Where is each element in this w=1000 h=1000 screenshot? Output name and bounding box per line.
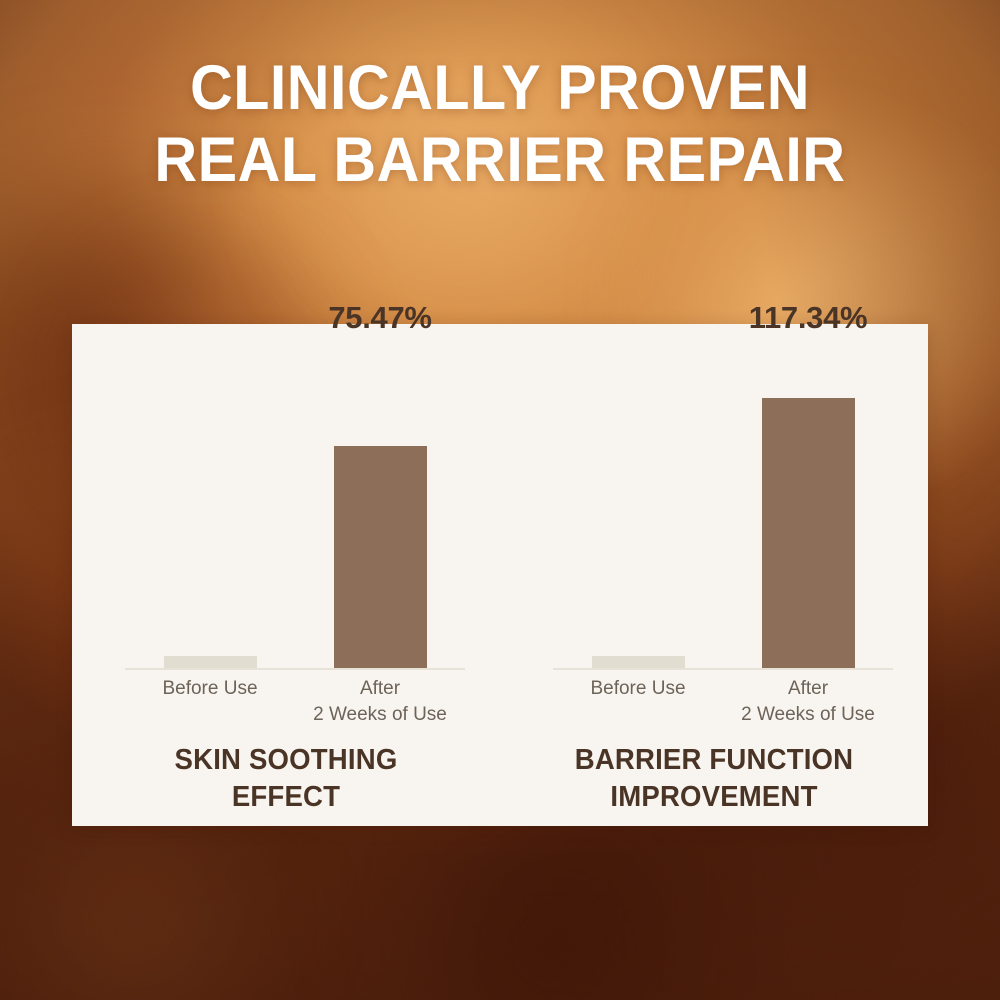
tick-label-after-left-line2: 2 Weeks of Use	[295, 702, 465, 728]
plot-area-right: 117.34%	[553, 342, 893, 670]
tick-label-before-left-line1: Before Use	[125, 676, 295, 702]
bar-group-right: 117.34%	[553, 342, 893, 670]
bar-value-label-left: 75.47%	[328, 300, 431, 336]
bar-slot-after-left: 75.47%	[295, 342, 465, 670]
tick-label-after-right-line1: After	[723, 676, 893, 702]
bar-slot-before-left	[125, 342, 295, 670]
chart-panel-barrier-function-improvement: 117.34% Before Use After 2 Weeks of Use	[500, 324, 928, 826]
tick-label-before-right: Before Use	[553, 676, 723, 728]
chart-title-right-line2: IMPROVEMENT	[511, 779, 918, 816]
axis-baseline-right	[553, 668, 893, 670]
chart-title-left-line2: EFFECT	[83, 779, 490, 816]
bar-group-left: 75.47%	[125, 342, 465, 670]
tick-labels-right: Before Use After 2 Weeks of Use	[553, 676, 893, 728]
page-title: CLINICALLY PROVEN REAL BARRIER REPAIR	[30, 52, 970, 196]
tick-labels-left: Before Use After 2 Weeks of Use	[125, 676, 465, 728]
tick-label-after-right: After 2 Weeks of Use	[723, 676, 893, 728]
chart-title-right-line1: BARRIER FUNCTION	[511, 742, 918, 779]
tick-label-after-left: After 2 Weeks of Use	[295, 676, 465, 728]
bar-after-2-weeks-right: 117.34%	[762, 398, 855, 670]
bar-value-label-right: 117.34%	[749, 300, 868, 336]
chart-title-left-line1: SKIN SOOTHING	[83, 742, 490, 779]
chart-panel-skin-soothing-effect: 75.47% Before Use After 2 Weeks of Use	[72, 324, 500, 826]
bar-slot-before-right	[553, 342, 723, 670]
promo-poster: CLINICALLY PROVEN REAL BARRIER REPAIR 75…	[0, 0, 1000, 1000]
bar-after-2-weeks-left: 75.47%	[334, 446, 427, 670]
axis-baseline-left	[125, 668, 465, 670]
results-card: 75.47% Before Use After 2 Weeks of Use	[72, 324, 928, 826]
charts-container: 75.47% Before Use After 2 Weeks of Use	[72, 324, 928, 826]
chart-title-left: SKIN SOOTHING EFFECT	[83, 742, 490, 816]
chart-title-right: BARRIER FUNCTION IMPROVEMENT	[511, 742, 918, 816]
tick-label-before-right-line1: Before Use	[553, 676, 723, 702]
tick-label-before-left: Before Use	[125, 676, 295, 728]
headline-line-2: REAL BARRIER REPAIR	[30, 124, 970, 196]
bar-slot-after-right: 117.34%	[723, 342, 893, 670]
headline-line-1: CLINICALLY PROVEN	[30, 52, 970, 124]
tick-label-after-right-line2: 2 Weeks of Use	[723, 702, 893, 728]
tick-label-after-left-line1: After	[295, 676, 465, 702]
plot-area-left: 75.47%	[125, 342, 465, 670]
